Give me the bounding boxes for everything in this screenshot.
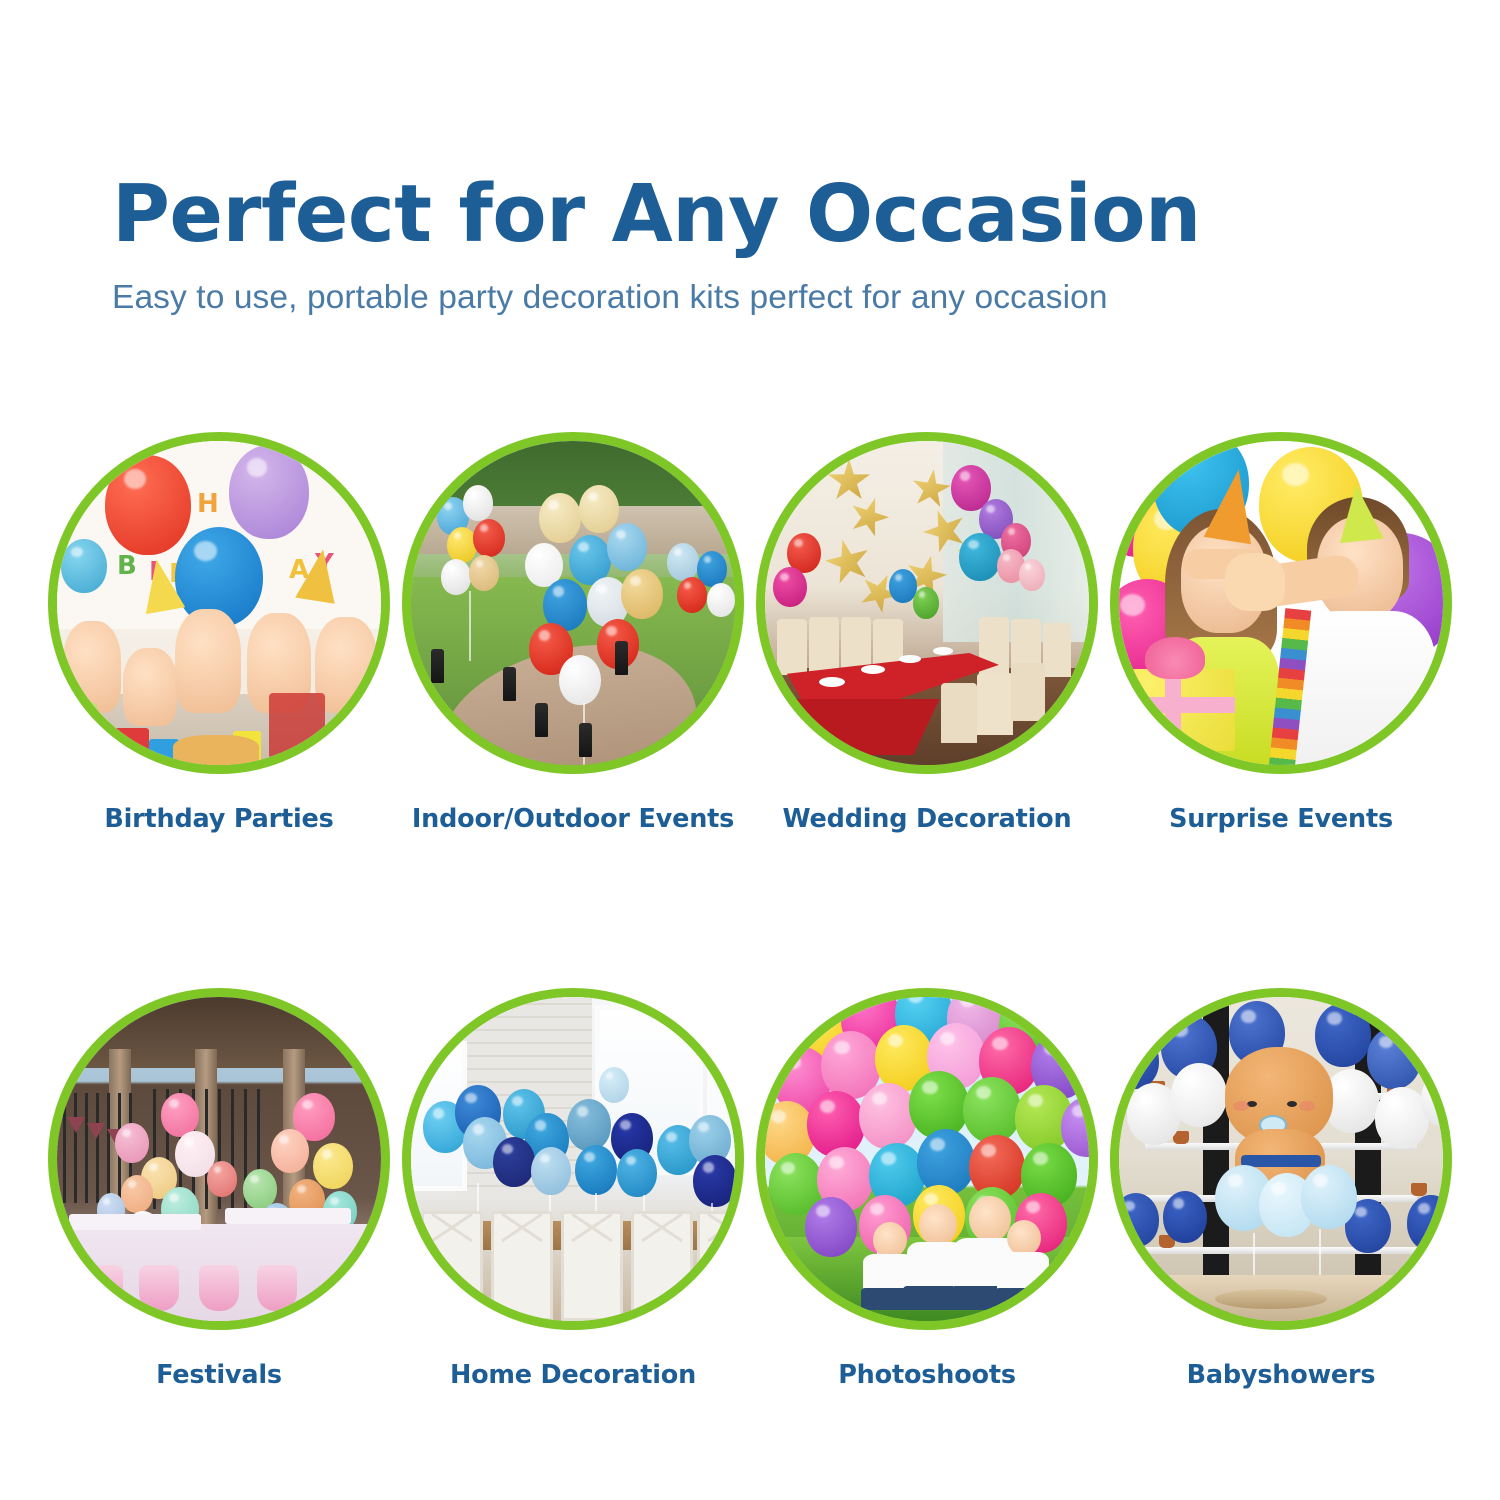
- occasion-card-photoshoots[interactable]: Photoshoots: [756, 988, 1098, 1390]
- scene-surprise-kids: [1119, 441, 1443, 765]
- occasion-image-festivals: [48, 988, 390, 1330]
- occasion-label-indoor-outdoor-events: Indoor/Outdoor Events: [412, 804, 734, 834]
- occasion-image-home-decoration: [402, 988, 744, 1330]
- occasion-grid-row-2: Festivals: [48, 988, 1452, 1390]
- occasion-image-photoshoots: [756, 988, 1098, 1330]
- occasion-label-birthday-parties: Birthday Parties: [104, 804, 333, 834]
- page-title: Perfect for Any Occasion: [112, 172, 1420, 257]
- occasion-image-surprise-events: [1110, 432, 1452, 774]
- scene-photoshoot-family: [765, 997, 1089, 1321]
- scene-festival-terrace: [57, 997, 381, 1321]
- occasion-card-babyshowers[interactable]: Babyshowers: [1110, 988, 1452, 1390]
- occasion-label-photoshoots: Photoshoots: [838, 1360, 1016, 1390]
- occasion-card-home-decoration[interactable]: Home Decoration: [402, 988, 744, 1390]
- header: Perfect for Any Occasion Easy to use, po…: [0, 172, 1500, 319]
- occasion-label-wedding-decoration: Wedding Decoration: [783, 804, 1072, 834]
- poster-canvas: Perfect for Any Occasion Easy to use, po…: [0, 0, 1500, 1500]
- scene-home-decoration: [411, 997, 735, 1321]
- occasion-grid: H P P B I R T A Y: [48, 432, 1452, 834]
- occasion-card-indoor-outdoor-events[interactable]: Indoor/Outdoor Events: [402, 432, 744, 834]
- occasion-card-wedding-decoration[interactable]: Wedding Decoration: [756, 432, 1098, 834]
- occasion-image-indoor-outdoor-events: [402, 432, 744, 774]
- occasion-card-surprise-events[interactable]: Surprise Events: [1110, 432, 1452, 834]
- scene-garden-event: [411, 441, 735, 765]
- occasion-image-babyshowers: [1110, 988, 1452, 1330]
- occasion-card-festivals[interactable]: Festivals: [48, 988, 390, 1390]
- occasion-card-birthday-parties[interactable]: H P P B I R T A Y: [48, 432, 390, 834]
- scene-wedding-hall: [765, 441, 1089, 765]
- occasion-image-birthday-parties: H P P B I R T A Y: [48, 432, 390, 774]
- page-subtitle: Easy to use, portable party decoration k…: [112, 277, 1420, 319]
- occasion-label-home-decoration: Home Decoration: [450, 1360, 696, 1390]
- scene-birthday-party: H P P B I R T A Y: [57, 441, 381, 765]
- occasion-image-wedding-decoration: [756, 432, 1098, 774]
- occasion-label-festivals: Festivals: [156, 1360, 282, 1390]
- occasion-label-babyshowers: Babyshowers: [1187, 1360, 1376, 1390]
- occasion-label-surprise-events: Surprise Events: [1169, 804, 1393, 834]
- scene-babyshower: [1119, 997, 1443, 1321]
